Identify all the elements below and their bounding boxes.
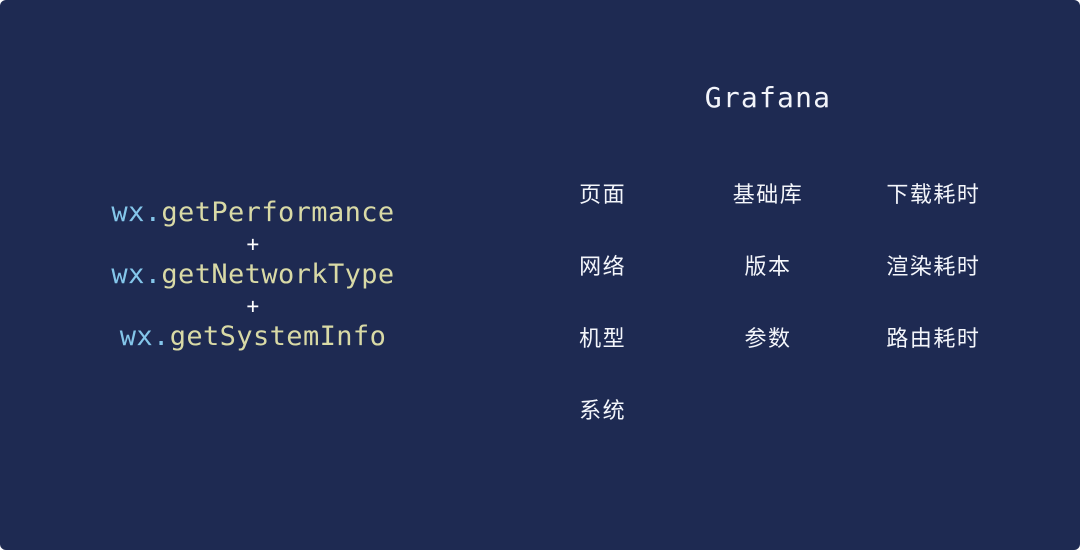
metric-cell: 页面 xyxy=(579,185,626,207)
api-method-2: getNetworkType xyxy=(161,259,394,290)
metric-cell: 渲染耗时 xyxy=(886,257,980,279)
metric-cell: 机型 xyxy=(579,329,626,351)
api-call-line-2: wx.getNetworkType xyxy=(60,258,446,292)
grafana-metrics-grid: 页面 基础库 下载耗时 网络 版本 渲染耗时 机型 参数 路由耗时 系统 xyxy=(520,160,1016,448)
metric-cell: 系统 xyxy=(579,401,626,423)
grafana-title: Grafana xyxy=(520,78,1016,118)
api-call-line-3: wx.getSystemInfo xyxy=(60,320,446,354)
api-call-line-1: wx.getPerformance xyxy=(60,196,446,230)
metric-cell: 下载耗时 xyxy=(886,185,980,207)
api-code-block: wx.getPerformance + wx.getNetworkType + … xyxy=(60,196,446,354)
metric-cell: 参数 xyxy=(744,329,791,351)
api-method-3: getSystemInfo xyxy=(170,321,387,352)
api-namespace-2: wx. xyxy=(111,259,161,290)
api-namespace-1: wx. xyxy=(111,197,161,228)
api-method-1: getPerformance xyxy=(161,197,394,228)
metric-cell: 版本 xyxy=(744,257,791,279)
metric-cell: 基础库 xyxy=(733,185,804,207)
slide-canvas: wx.getPerformance + wx.getNetworkType + … xyxy=(0,0,1080,550)
api-namespace-3: wx. xyxy=(120,321,170,352)
metric-cell: 网络 xyxy=(579,257,626,279)
plus-separator-2: + xyxy=(60,292,446,320)
grafana-panel: Grafana 页面 基础库 下载耗时 网络 版本 渲染耗时 机型 参数 路由耗… xyxy=(520,78,1020,438)
plus-separator-1: + xyxy=(60,230,446,258)
metric-cell: 路由耗时 xyxy=(886,329,980,351)
